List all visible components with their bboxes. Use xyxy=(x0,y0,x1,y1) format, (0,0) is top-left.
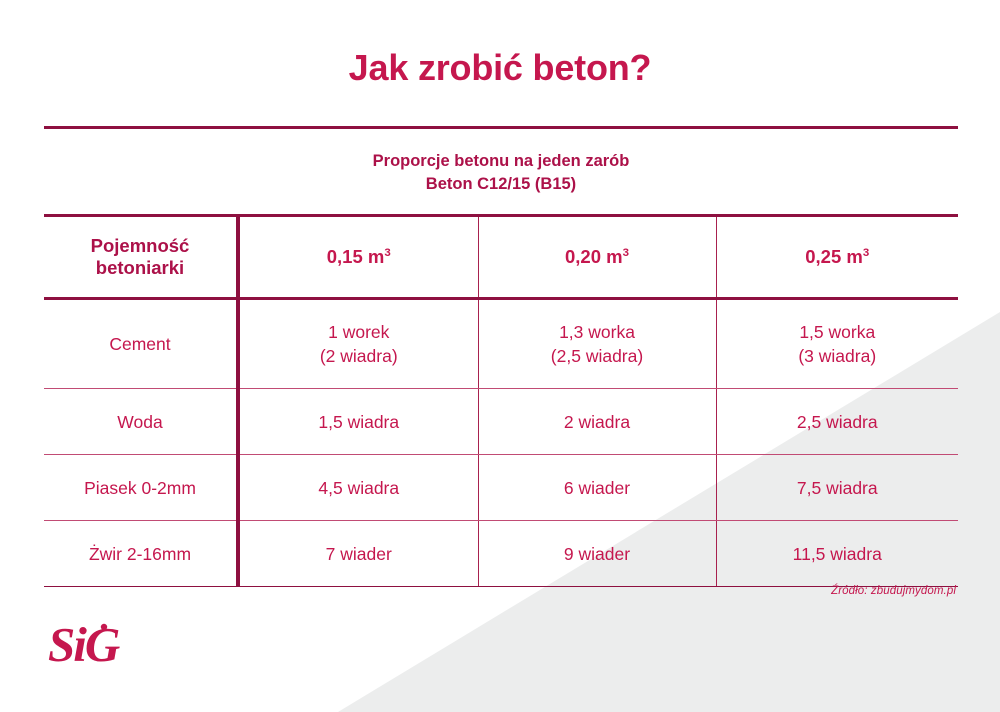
table-row: Żwir 2-16mm 7 wiader 9 wiader 11,5 wiadr… xyxy=(44,521,958,587)
column-header-volume-025: 0,25 m3 xyxy=(716,216,958,299)
table-row: Cement 1 worek (2 wiadra) 1,3 worka (2,5… xyxy=(44,299,958,389)
cell-woda-020: 2 wiadra xyxy=(478,389,716,455)
table-caption-line-2: Beton C12/15 (B15) xyxy=(44,173,958,196)
cell-piasek-025: 7,5 wiadra xyxy=(716,455,958,521)
capacity-label-line-2: betoniarki xyxy=(96,257,184,278)
volume-020-value: 0,20 m xyxy=(565,246,623,267)
volume-025-value: 0,25 m xyxy=(805,246,863,267)
cell-line-1: 1,5 worka xyxy=(799,322,875,342)
cell-line-2: (3 wiadra) xyxy=(798,346,876,366)
proportions-table-container: Pojemność betoniarki 0,15 m3 0,20 m3 0,2… xyxy=(44,214,958,587)
row-label-zwir: Żwir 2-16mm xyxy=(44,521,238,587)
row-label-piasek: Piasek 0-2mm xyxy=(44,455,238,521)
table-header-row: Pojemność betoniarki 0,15 m3 0,20 m3 0,2… xyxy=(44,216,958,299)
cell-woda-025: 2,5 wiadra xyxy=(716,389,958,455)
cell-line-1: 1,3 worka xyxy=(559,322,635,342)
cell-zwir-020: 9 wiader xyxy=(478,521,716,587)
row-label-cement: Cement xyxy=(44,299,238,389)
table-row: Piasek 0-2mm 4,5 wiadra 6 wiader 7,5 wia… xyxy=(44,455,958,521)
volume-015-value: 0,15 m xyxy=(327,246,385,267)
capacity-label-line-1: Pojemność xyxy=(91,235,190,256)
column-header-capacity: Pojemność betoniarki xyxy=(44,216,238,299)
svg-text:SiG: SiG xyxy=(48,618,120,672)
table-row: Woda 1,5 wiadra 2 wiadra 2,5 wiadra xyxy=(44,389,958,455)
sig-logo[interactable]: SiG xyxy=(48,618,178,676)
cell-zwir-025: 11,5 wiadra xyxy=(716,521,958,587)
cell-line-2: (2 wiadra) xyxy=(320,346,398,366)
cell-line-2: (2,5 wiadra) xyxy=(551,346,643,366)
cubic-meter-superscript: 3 xyxy=(863,247,869,259)
column-header-volume-020: 0,20 m3 xyxy=(478,216,716,299)
source-attribution: Źródło: zbudujmydom.pl xyxy=(831,585,956,597)
cell-cement-015: 1 worek (2 wiadra) xyxy=(238,299,478,389)
page-title: Jak zrobić beton? xyxy=(0,47,1000,89)
cell-piasek-020: 6 wiader xyxy=(478,455,716,521)
table-caption-line-1: Proporcje betonu na jeden zarób xyxy=(44,150,958,173)
header-divider xyxy=(44,126,958,129)
cell-piasek-015: 4,5 wiadra xyxy=(238,455,478,521)
row-label-woda: Woda xyxy=(44,389,238,455)
cell-cement-020: 1,3 worka (2,5 wiadra) xyxy=(478,299,716,389)
cubic-meter-superscript: 3 xyxy=(623,247,629,259)
sig-logo-mark: SiG xyxy=(48,618,178,676)
table-caption: Proporcje betonu na jeden zarób Beton C1… xyxy=(44,150,958,196)
cell-woda-015: 1,5 wiadra xyxy=(238,389,478,455)
column-header-volume-015: 0,15 m3 xyxy=(238,216,478,299)
cubic-meter-superscript: 3 xyxy=(384,247,390,259)
cell-line-1: 1 worek xyxy=(328,322,389,342)
cell-cement-025: 1,5 worka (3 wiadra) xyxy=(716,299,958,389)
infographic-canvas: Jak zrobić beton? Proporcje betonu na je… xyxy=(0,0,1000,712)
cell-zwir-015: 7 wiader xyxy=(238,521,478,587)
proportions-table: Pojemność betoniarki 0,15 m3 0,20 m3 0,2… xyxy=(44,214,958,587)
